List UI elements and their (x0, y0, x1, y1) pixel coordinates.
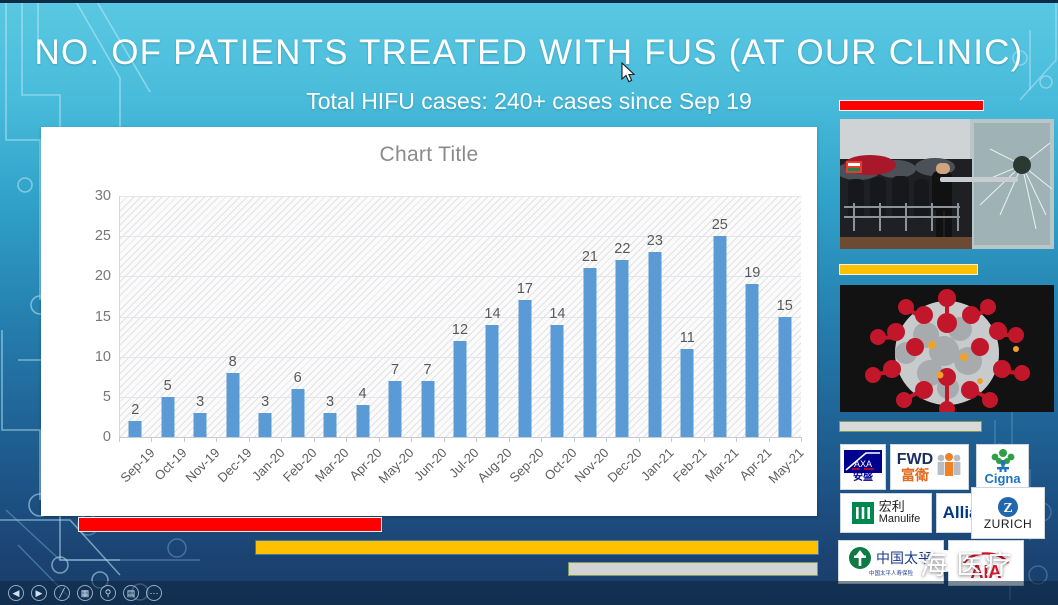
mouse-cursor (621, 62, 637, 84)
x-axis: Sep-19Oct-19Nov-19Dec-19Jan-20Feb-20Mar-… (119, 443, 801, 503)
bar-slot: 15 (769, 196, 801, 437)
bar-value-label: 21 (582, 249, 598, 265)
x-axis-line (119, 437, 801, 438)
bar-value-label: 15 (777, 298, 793, 314)
bar (259, 413, 272, 437)
logo-zurich-label: ZURICH (984, 518, 1032, 531)
bar-value-label: 7 (391, 362, 399, 378)
y-axis-tick-label: 0 (71, 429, 111, 445)
pen-tool-button[interactable]: ╱ (54, 585, 70, 601)
bar (161, 397, 174, 437)
bar (778, 317, 791, 438)
bar-value-label: 22 (614, 241, 630, 257)
logo-manulife: 宏利 Manulife (840, 493, 932, 533)
bar-slot: 21 (574, 196, 606, 437)
bar (129, 421, 142, 437)
bar (648, 252, 661, 437)
rail-grey-bar (839, 421, 982, 432)
grey-phase-bar (568, 562, 818, 576)
bar-slot: 8 (216, 196, 248, 437)
x-axis-tick (281, 437, 282, 442)
logo-fwd: FWD 富衛 (890, 444, 969, 490)
bar-slot: 3 (249, 196, 281, 437)
x-axis-tick (119, 437, 120, 442)
bar (681, 349, 694, 437)
right-rail: AXA 安盛 FWD 富衛 (836, 100, 1050, 600)
x-axis-tick (476, 437, 477, 442)
rail-gold-bar (839, 264, 978, 275)
previous-slide-button[interactable]: ◀ (8, 585, 24, 601)
x-axis-tick (639, 437, 640, 442)
logo-manulife-sub: 宏利 (879, 500, 921, 513)
bar-slot: 23 (639, 196, 671, 437)
bar-value-label: 11 (680, 330, 695, 346)
next-slide-button[interactable]: ▶ (31, 585, 47, 601)
bar (518, 300, 531, 437)
x-axis-tick (184, 437, 185, 442)
x-axis-tick (736, 437, 737, 442)
bar-value-label: 14 (484, 306, 500, 322)
bar (551, 325, 564, 437)
chart-panel: Chart Title 051015202530 253836347712141… (41, 127, 817, 516)
bar-value-label: 23 (647, 233, 663, 249)
bar (616, 260, 629, 437)
bar-value-label: 7 (423, 362, 431, 378)
bar-value-label: 19 (744, 265, 760, 281)
bar (356, 405, 369, 437)
bar-value-label: 25 (712, 217, 728, 233)
bar-slot: 14 (476, 196, 508, 437)
logo-chinataiping-label: 中国太平人寿保险 (869, 572, 913, 578)
watermark-text: 海 医疗 (920, 543, 1013, 582)
logo-cigna-label: Cigna (984, 472, 1020, 486)
bar-value-label: 8 (229, 354, 237, 370)
bar-value-label: 3 (326, 394, 334, 410)
x-axis-tick (671, 437, 672, 442)
y-axis: 051015202530 (63, 196, 111, 437)
zoom-button[interactable]: ⚲ (100, 585, 116, 601)
bar-slot: 17 (509, 196, 541, 437)
bar (421, 381, 434, 437)
y-axis-tick-label: 30 (71, 188, 111, 204)
bar-value-label: 2 (131, 402, 139, 418)
bar (291, 389, 304, 437)
svg-text:AXA: AXA (854, 459, 872, 469)
x-axis-tick (769, 437, 770, 442)
x-axis-tick (379, 437, 380, 442)
bar-value-label: 6 (294, 370, 302, 386)
logo-cigna: Cigna (976, 444, 1029, 490)
bar-value-label: 5 (164, 378, 172, 394)
x-axis-tick (801, 437, 802, 442)
bar-value-label: 12 (452, 322, 468, 338)
x-axis-tick (314, 437, 315, 442)
bar-series: 25383634771214171421222311251915 (119, 196, 801, 437)
bar-slot: 7 (379, 196, 411, 437)
y-axis-tick-label: 15 (71, 309, 111, 325)
bar-value-label: 4 (359, 386, 367, 402)
bar (389, 381, 402, 437)
x-axis-tick (509, 437, 510, 442)
x-axis-tick (411, 437, 412, 442)
x-axis-tick (151, 437, 152, 442)
bar-slot: 11 (671, 196, 703, 437)
presentation-slide: NO. OF PATIENTS TREATED WITH FUS (AT OUR… (0, 0, 1058, 605)
bar-slot: 22 (606, 196, 638, 437)
bar (713, 236, 726, 437)
bar (746, 284, 759, 437)
logo-axa-label: 安盛 (853, 473, 873, 484)
y-axis-tick-label: 25 (71, 228, 111, 244)
bar-slot: 6 (281, 196, 313, 437)
bar-value-label: 17 (517, 281, 533, 297)
bar-slot: 12 (444, 196, 476, 437)
x-axis-tick (541, 437, 542, 442)
logo-fwd-label: FWD (897, 452, 933, 468)
chart-title: Chart Title (41, 143, 817, 167)
x-axis-tick (704, 437, 705, 442)
y-axis-tick-label: 5 (71, 389, 111, 405)
x-axis-tick (216, 437, 217, 442)
bar (226, 373, 239, 437)
x-axis-tick (444, 437, 445, 442)
bar-slot: 25 (704, 196, 736, 437)
y-axis-tick-label: 10 (71, 349, 111, 365)
bar-slot: 19 (736, 196, 768, 437)
coronavirus-photo (840, 285, 1054, 412)
all-slides-button[interactable]: ▦ (77, 585, 93, 601)
screen-options-button[interactable]: ▤ (123, 585, 139, 601)
x-axis-tick (249, 437, 250, 442)
bar-slot: 3 (184, 196, 216, 437)
more-options-button[interactable]: ⋯ (146, 585, 162, 601)
x-axis-tick (346, 437, 347, 442)
x-axis-tick (574, 437, 575, 442)
logo-axa: AXA 安盛 (840, 444, 886, 490)
presentation-toolbar[interactable]: ◀▶╱▦⚲▤⋯ (0, 581, 1058, 605)
rail-red-bar (839, 100, 984, 111)
bar-slot: 3 (314, 196, 346, 437)
bar (583, 268, 596, 437)
bar-value-label: 14 (549, 306, 565, 322)
red-phase-bar (78, 517, 382, 532)
bar-slot: 2 (119, 196, 151, 437)
bar (486, 325, 499, 437)
bar (453, 341, 466, 437)
bar-slot: 4 (346, 196, 378, 437)
logo-zurich: Z ZURICH (971, 487, 1045, 539)
bar-value-label: 3 (261, 394, 269, 410)
x-axis-tick (606, 437, 607, 442)
logo-manulife-label: Manulife (879, 513, 921, 526)
bar-slot: 7 (411, 196, 443, 437)
protest-photo (840, 119, 1054, 249)
bar (324, 413, 337, 437)
logo-fwd-sub: 富衛 (897, 468, 933, 482)
page-title: NO. OF PATIENTS TREATED WITH FUS (AT OUR… (0, 33, 1058, 73)
bar-slot: 14 (541, 196, 573, 437)
bar-slot: 5 (151, 196, 183, 437)
gold-phase-bar (255, 540, 819, 555)
bar-value-label: 3 (196, 394, 204, 410)
bar (194, 413, 207, 437)
svg-text:Z: Z (1003, 501, 1012, 516)
y-axis-tick-label: 20 (71, 268, 111, 284)
